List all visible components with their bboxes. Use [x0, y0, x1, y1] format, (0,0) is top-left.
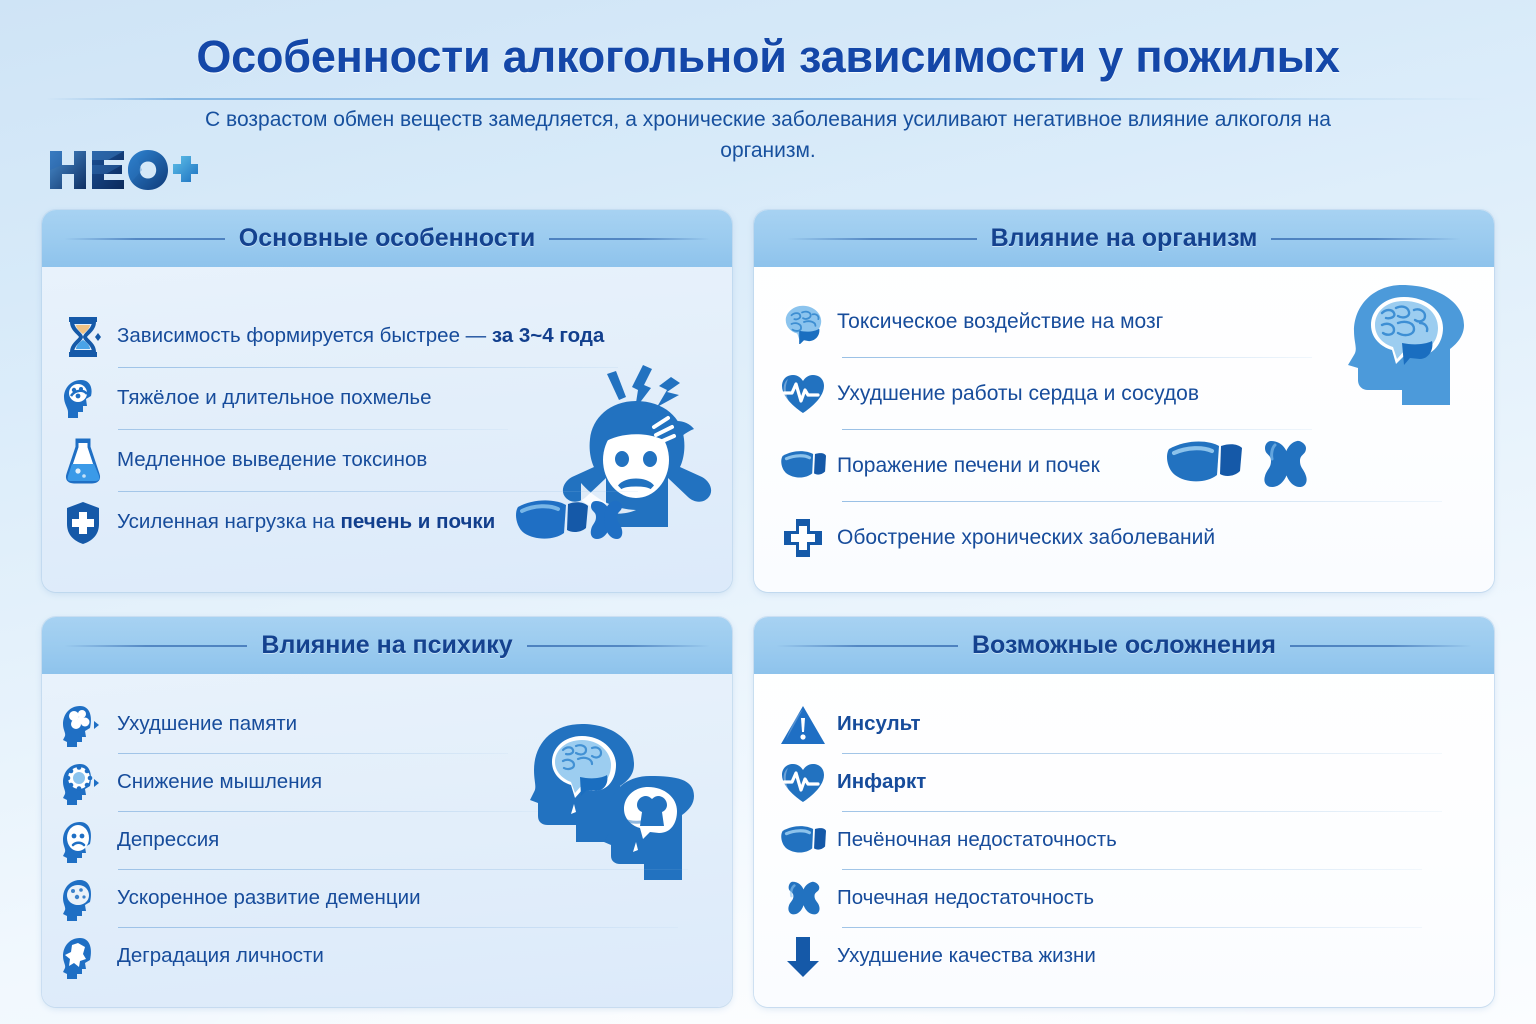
list-item-label: Медленное выведение токсинов — [117, 448, 427, 473]
list-item[interactable]: Депрессия — [60, 812, 712, 870]
header-rule-right — [549, 238, 710, 240]
hourglass-icon — [60, 314, 106, 360]
cards-grid: Основные особенности — [0, 210, 1536, 1007]
card-title: Возможные осложнения — [972, 631, 1276, 660]
list-item-label: Деградация личности — [117, 944, 324, 969]
head-thinking-icon — [60, 760, 106, 806]
liver-kidneys-illustration — [1165, 435, 1365, 497]
card-body-impact: Влияние на организм — [754, 210, 1494, 592]
page-subtitle: С возрастом обмен веществ замедляется, а… — [188, 104, 1348, 168]
list-item[interactable]: Усиленная нагрузка на печень и почки — [60, 492, 712, 554]
liver-icon — [780, 443, 826, 489]
card-header: Основные особенности — [42, 210, 732, 267]
card-header: Влияние на психику — [42, 617, 732, 674]
head-dementia-icon — [60, 876, 106, 922]
list-item-label: Обострение хронических заболеваний — [837, 525, 1215, 550]
list-item-label: Ухудшение качества жизни — [837, 944, 1096, 969]
card-header: Влияние на организм — [754, 210, 1494, 267]
head-sad-icon — [60, 818, 106, 864]
card-body: Инсульт Инфаркт — [754, 674, 1494, 1007]
list-item[interactable]: Ухудшение работы сердца и сосудов — [772, 358, 1474, 430]
card-header: Возможные осложнения — [754, 617, 1494, 674]
header-rule-left — [787, 238, 977, 240]
head-degradation-icon — [60, 934, 106, 980]
header-rule-left — [776, 645, 958, 647]
list-item-label: Печёночная недостаточность — [837, 828, 1117, 853]
title-divider — [46, 98, 1496, 100]
list-item[interactable]: Деградация личности — [60, 928, 712, 986]
list-item-label: Инсульт — [837, 712, 921, 737]
list-item[interactable]: Зависимость формируется быстрее — за 3~4… — [60, 306, 712, 368]
list-item-label: Почечная недостаточность — [837, 886, 1094, 911]
header-rule-left — [64, 238, 225, 240]
list-item-label: Зависимость формируется быстрее — за 3~4… — [117, 324, 604, 349]
card-main-features: Основные особенности — [42, 210, 732, 592]
list-item-label: Поражение печени и почек — [837, 453, 1100, 478]
list-item[interactable]: Медленное выведение токсинов — [60, 430, 712, 492]
list-item-label: Ухудшение работы сердца и сосудов — [837, 381, 1199, 406]
header-rule-right — [1271, 238, 1461, 240]
card-psyche-impact: Влияние на психику — [42, 617, 732, 1007]
list-item[interactable]: Поражение печени и почек — [772, 430, 1474, 502]
card-body: Ухудшение памяти — [42, 674, 732, 1007]
card-body: Зависимость формируется быстрее — за 3~4… — [42, 267, 732, 592]
list-item[interactable]: Инсульт — [772, 696, 1474, 754]
neo-plus-logo[interactable] — [48, 147, 198, 193]
down-arrow-icon — [780, 934, 826, 980]
heart-pulse-icon — [780, 760, 826, 806]
list-item[interactable]: Обострение хронических заболеваний — [772, 502, 1474, 574]
list-item[interactable]: Инфаркт — [772, 754, 1474, 812]
list-item-label: Инфаркт — [837, 770, 926, 795]
list-item-label: Снижение мышления — [117, 770, 322, 795]
liver-icon — [780, 818, 826, 864]
kidneys-icon — [780, 876, 826, 922]
card-body: Токсическое воздействие на мозг Ухудшени… — [754, 267, 1494, 592]
head-hangover-icon — [60, 376, 106, 422]
heart-pulse-icon — [780, 371, 826, 417]
list-item[interactable]: Ускоренное развитие деменции — [60, 870, 712, 928]
list-item[interactable]: Почечная недостаточность — [772, 870, 1474, 928]
shield-cross-icon — [60, 500, 106, 546]
list-item[interactable]: Печёночная недостаточность — [772, 812, 1474, 870]
header-rule-right — [1290, 645, 1472, 647]
card-title: Влияние на психику — [261, 631, 512, 660]
list-item[interactable]: Тяжёлое и длительное похмелье — [60, 368, 712, 430]
cross-medical-icon — [780, 515, 826, 561]
warning-triangle-icon — [780, 702, 826, 748]
list-item[interactable]: Снижение мышления — [60, 754, 712, 812]
card-title: Основные особенности — [239, 224, 536, 253]
list-item[interactable]: Токсическое воздействие на мозг — [772, 286, 1474, 358]
flask-toxins-icon — [60, 438, 106, 484]
list-item-label: Усиленная нагрузка на печень и почки — [117, 510, 495, 535]
list-item-label: Токсическое воздействие на мозг — [837, 309, 1163, 334]
liver-kidney-illustration — [514, 493, 629, 553]
list-item-label: Депрессия — [117, 828, 219, 853]
brain-icon — [780, 299, 826, 345]
list-item-label: Ускоренное развитие деменции — [117, 886, 421, 911]
header-rule-right — [527, 645, 710, 647]
head-memory-icon — [60, 702, 106, 748]
page-title: Особенности алкогольной зависимости у по… — [0, 0, 1536, 82]
card-complications: Возможные осложнения Инсульт — [754, 617, 1494, 1007]
list-item-label: Тяжёлое и длительное похмелье — [117, 386, 432, 411]
list-item[interactable]: Ухудшение памяти — [60, 696, 712, 754]
header-rule-left — [64, 645, 247, 647]
list-item-label: Ухудшение памяти — [117, 712, 297, 737]
list-item[interactable]: Ухудшение качества жизни — [772, 928, 1474, 986]
card-title: Влияние на организм — [991, 224, 1258, 253]
